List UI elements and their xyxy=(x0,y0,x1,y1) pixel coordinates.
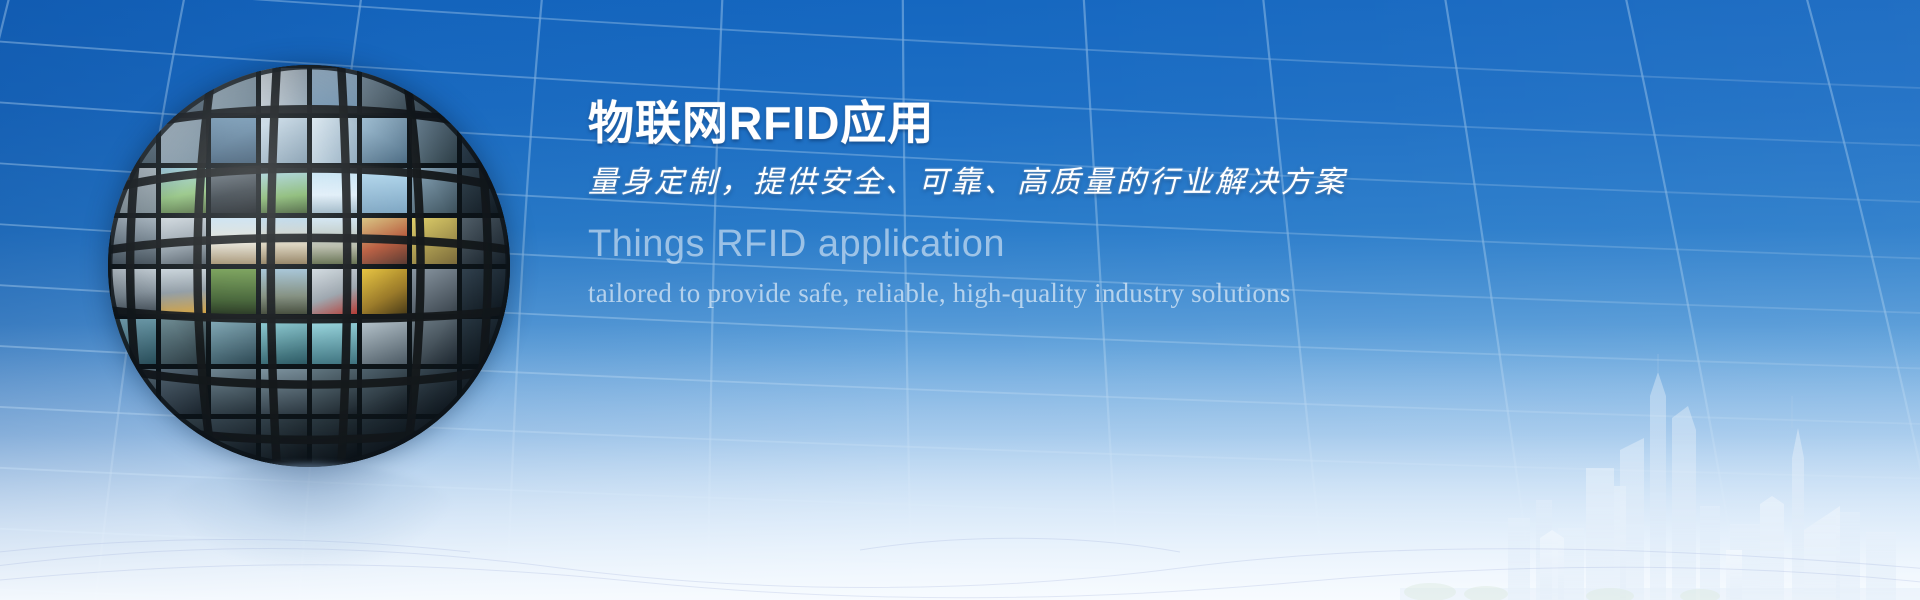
globe-tile xyxy=(261,419,306,464)
globe-tile xyxy=(412,319,457,364)
banner-english-title: Things RFID application xyxy=(588,224,1588,266)
globe-tile xyxy=(111,269,156,314)
globe-tile xyxy=(462,369,507,414)
globe-tile xyxy=(362,319,407,364)
globe-tile xyxy=(111,218,156,263)
globe-tile xyxy=(462,319,507,364)
globe-tile xyxy=(211,319,256,364)
globe-tile xyxy=(362,218,407,263)
globe-tile xyxy=(412,218,457,263)
globe-tile xyxy=(312,319,357,364)
globe-tile xyxy=(211,369,256,414)
globe-tile xyxy=(462,218,507,263)
banner-subtitle: 量身定制，提供安全、可靠、高质量的行业解决方案 xyxy=(588,164,1588,202)
globe-tile xyxy=(362,168,407,213)
globe-tile xyxy=(312,218,357,263)
globe-tile-grid xyxy=(108,65,510,467)
globe-tile xyxy=(161,319,206,364)
globe-tile xyxy=(412,419,457,464)
globe-tile xyxy=(362,68,407,113)
globe-tile xyxy=(362,118,407,163)
globe-tile xyxy=(261,319,306,364)
globe-tile xyxy=(312,369,357,414)
globe-tile xyxy=(261,168,306,213)
globe-reflection xyxy=(164,463,453,568)
globe-tile xyxy=(462,269,507,314)
globe-tile xyxy=(362,369,407,414)
globe-tile xyxy=(211,218,256,263)
globe-tile xyxy=(161,218,206,263)
globe-tile xyxy=(462,168,507,213)
globe-tile xyxy=(261,218,306,263)
globe-tile xyxy=(312,168,357,213)
globe-tile xyxy=(261,118,306,163)
globe-tile xyxy=(111,68,156,113)
globe-tile xyxy=(211,419,256,464)
globe-tile xyxy=(362,269,407,314)
page-title: 物联网RFID应用 xyxy=(588,96,1588,150)
globe-tile xyxy=(462,68,507,113)
globe-tile xyxy=(462,419,507,464)
banner-copy: 物联网RFID应用 量身定制，提供安全、可靠、高质量的行业解决方案 Things… xyxy=(588,96,1588,309)
globe-tile xyxy=(462,118,507,163)
banner-english-subtitle: tailored to provide safe, reliable, high… xyxy=(588,278,1588,309)
globe-tile xyxy=(362,419,407,464)
globe-tile xyxy=(211,68,256,113)
globe-tile xyxy=(312,269,357,314)
globe-tile xyxy=(161,168,206,213)
globe-tile xyxy=(312,118,357,163)
globe-tile xyxy=(161,269,206,314)
globe-tile xyxy=(261,369,306,414)
globe-tile xyxy=(312,419,357,464)
globe-tile xyxy=(211,118,256,163)
globe-tile xyxy=(412,68,457,113)
globe-tile xyxy=(211,269,256,314)
globe-tile xyxy=(261,68,306,113)
photo-mosaic-globe xyxy=(108,65,510,467)
rfid-hero-banner: 物联网RFID应用 量身定制，提供安全、可靠、高质量的行业解决方案 Things… xyxy=(0,0,1920,600)
globe-tile xyxy=(161,118,206,163)
globe-tile xyxy=(412,118,457,163)
globe-tile xyxy=(111,369,156,414)
globe-tile xyxy=(111,319,156,364)
globe-tile xyxy=(161,419,206,464)
globe-tile xyxy=(412,369,457,414)
globe-tile xyxy=(111,419,156,464)
globe-tile xyxy=(161,68,206,113)
globe-tile xyxy=(412,269,457,314)
globe-tile xyxy=(412,168,457,213)
globe-tile xyxy=(211,168,256,213)
globe-tile xyxy=(261,269,306,314)
globe-tile xyxy=(111,168,156,213)
globe-tile xyxy=(312,68,357,113)
globe-tile xyxy=(111,118,156,163)
globe-tile xyxy=(161,369,206,414)
